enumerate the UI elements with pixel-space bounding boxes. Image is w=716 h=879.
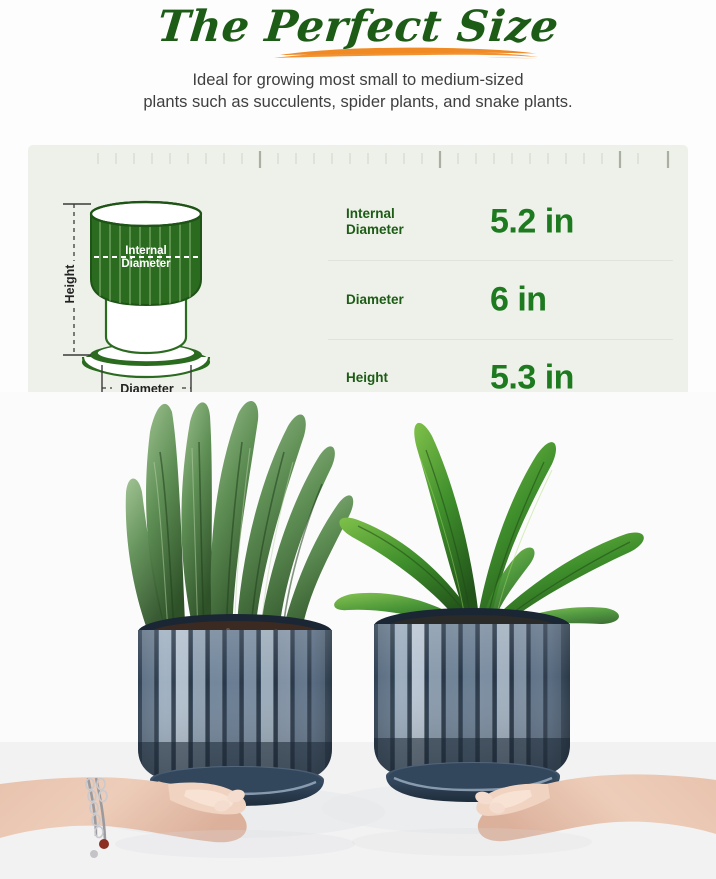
product-infographic: The Perfect Size Ideal for growing most … xyxy=(0,0,716,879)
diagram-internal-diameter-label-line2: Diameter xyxy=(121,258,171,270)
spec-table: Internal Diameter 5.2 in Diameter 6 in H… xyxy=(328,183,673,415)
page-title: The Perfect Size xyxy=(0,2,716,52)
header: The Perfect Size Ideal for growing most … xyxy=(0,0,716,130)
spec-value-internal-diameter: 5.2 in xyxy=(490,202,574,241)
spec-value-diameter: 6 in xyxy=(490,280,547,319)
spec-label-line-1: Internal xyxy=(346,206,466,222)
diagram-height-label: Height xyxy=(63,264,77,304)
title-underline-brushstroke xyxy=(272,46,540,59)
specification-panel: Internal Diameter Height Diameter xyxy=(28,145,688,419)
diagram-internal-diameter-label-line1: Internal xyxy=(125,245,167,257)
subtitle-line-1: Ideal for growing most small to medium-s… xyxy=(58,69,658,91)
left-planter-pot xyxy=(130,614,345,806)
ruler-decoration xyxy=(28,145,688,177)
subtitle: Ideal for growing most small to medium-s… xyxy=(58,69,658,113)
pot-dimension-diagram: Internal Diameter Height Diameter xyxy=(58,187,303,412)
spec-label-line-2: Diameter xyxy=(346,222,466,238)
panel-body: Internal Diameter Height Diameter xyxy=(28,177,688,419)
spec-row-diameter: Diameter 6 in xyxy=(328,260,673,338)
spec-label-diameter: Diameter xyxy=(346,292,466,308)
subtitle-line-2: plants such as succulents, spider plants… xyxy=(58,91,658,113)
product-photo xyxy=(0,392,716,879)
spec-row-internal-diameter: Internal Diameter 5.2 in xyxy=(328,183,673,260)
spec-label-internal-diameter: Internal Diameter xyxy=(346,206,466,238)
height-measure: Height xyxy=(63,204,91,355)
spec-label-height: Height xyxy=(346,370,466,386)
right-planter-pot xyxy=(366,608,582,802)
